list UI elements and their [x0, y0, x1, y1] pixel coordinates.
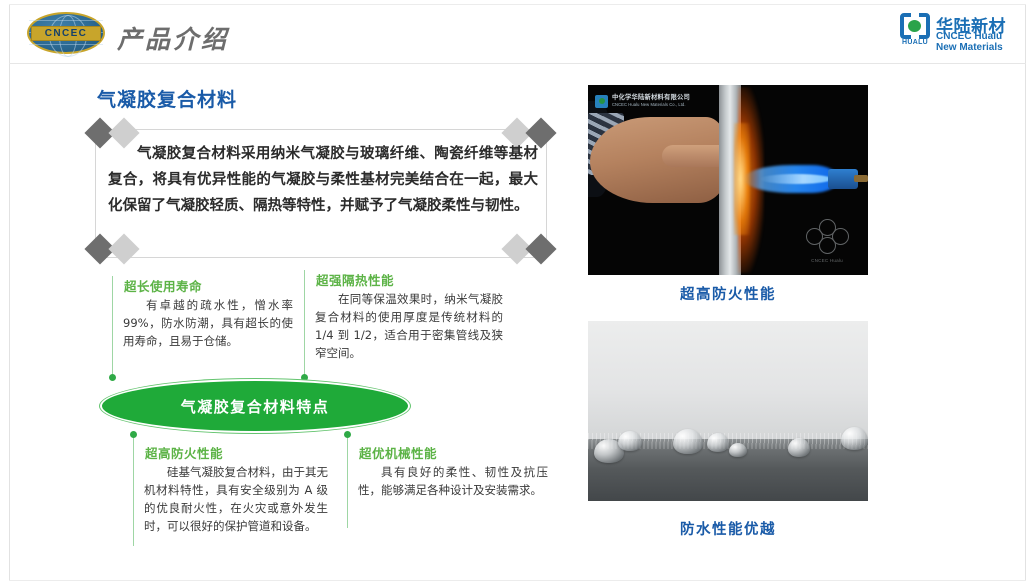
photo-corner-logo: CNCEC Hualu: [800, 219, 854, 261]
connector-line-top-right: [304, 270, 305, 378]
hualu-en-line2: New Materials: [936, 42, 1003, 53]
watermark-badge-icon: [595, 95, 608, 108]
slide-frame-left: [9, 4, 10, 580]
slide-frame-bottom: [9, 580, 1026, 581]
hualu-mark-label: HUALU: [899, 39, 931, 46]
photo-watermark: 中化学华陆新材料有限公司 CNCEC Hualu New Materials C…: [595, 94, 690, 108]
globe-latitude: [29, 44, 103, 45]
feature-body: 有卓越的疏水性，憎水率99%，防水防潮，具有超长的使用寿命，且易于仓储。: [123, 296, 293, 350]
photo-background-blur: [588, 321, 868, 445]
watermark-en: CNCEC Hualu New Materials Co., Ltd.: [612, 102, 690, 108]
hualu-green-dot: [908, 20, 921, 32]
feature-title: 超优机械性能: [359, 443, 437, 462]
caption-fire-resistance: 超高防火性能: [588, 283, 868, 304]
feature-body: 在同等保温效果时，纳米气凝胶复合材料的使用厚度是传统材料的 1/4 到 1/2，…: [315, 290, 503, 362]
photo-torch-handle: [854, 175, 868, 182]
water-droplet: [729, 443, 747, 457]
photo-fire-resistance-demo: 中化学华陆新材料有限公司 CNCEC Hualu New Materials C…: [588, 85, 868, 275]
section-title: 气凝胶复合材料: [97, 85, 237, 112]
photo-finger: [662, 145, 724, 167]
cncec-wordmark-text: CNCEC: [45, 29, 88, 39]
water-droplet: [618, 431, 642, 451]
connector-line-top-left: [112, 276, 113, 378]
feature-title: 超强隔热性能: [316, 270, 394, 289]
watermark-cn: 中化学华陆新材料有限公司: [612, 94, 690, 102]
feature-title: 超高防火性能: [145, 443, 223, 462]
slide-frame-top: [9, 4, 1026, 5]
slide-frame-right: [1025, 4, 1026, 580]
caption-water-repellency: 防水性能优越: [588, 518, 868, 539]
hualu-en-line1: CNCEC Hualu: [936, 31, 1002, 42]
water-droplet: [841, 427, 868, 450]
connector-line-bottom-left: [133, 436, 134, 546]
diagram-center-ellipse[interactable]: 气凝胶复合材料特点: [100, 379, 410, 433]
feature-title: 超长使用寿命: [124, 276, 202, 295]
photo-flame-core: [760, 174, 832, 184]
hualu-notch-top: [911, 12, 919, 19]
feature-body: 硅基气凝胶复合材料，由于其无机材料特性，具有安全级别为 A 级的优良耐火性，在火…: [144, 463, 328, 535]
cncec-logo-icon: CNCEC: [27, 11, 105, 55]
diagram-center-label: 气凝胶复合材料特点: [181, 396, 330, 417]
photo-corner-logo-label: CNCEC Hualu: [800, 258, 854, 263]
water-droplet: [673, 429, 703, 454]
header-divider: [9, 63, 1026, 64]
connector-node-bottom-right: [344, 431, 351, 438]
description-text: 气凝胶复合材料采用纳米气凝胶与玻璃纤维、陶瓷纤维等基材复合，将具有优异性能的气凝…: [108, 141, 538, 219]
connector-node-bottom-left: [130, 431, 137, 438]
hualu-mark-icon: HUALU: [900, 13, 930, 41]
hualu-logo: HUALU 华陆新材 CNCEC Hualu New Materials: [900, 13, 1020, 51]
water-droplet: [788, 438, 810, 457]
globe-latitude: [29, 20, 103, 21]
feature-body: 具有良好的柔性、韧性及抗压性，能够满足各种设计及安装需求。: [358, 463, 548, 499]
cncec-wordmark-band: CNCEC: [31, 26, 101, 41]
photo-water-repellency-demo: [588, 321, 868, 501]
connector-node-top-left: [109, 374, 116, 381]
page-title: 产品介绍: [117, 20, 229, 56]
water-droplet: [707, 433, 729, 452]
connector-line-bottom-right: [347, 436, 348, 528]
slide-canvas: CNCEC 产品介绍 HUALU 华陆新材 CNCEC Hualu New Ma…: [0, 0, 1035, 584]
